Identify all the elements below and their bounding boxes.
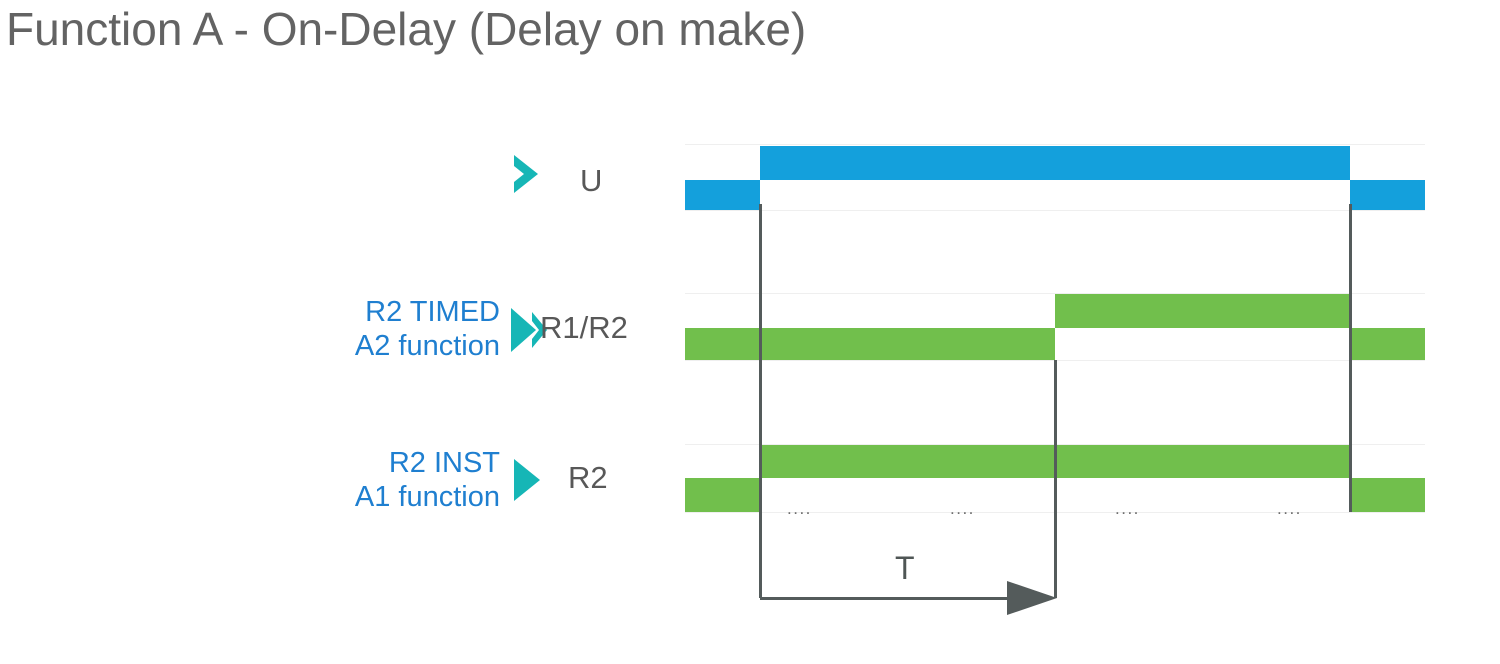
waveform-r1r2-low-end xyxy=(1350,328,1425,360)
waveform-r2-low-end xyxy=(1350,478,1425,512)
waveform-r2-low-start xyxy=(685,478,760,512)
reference-line-input-rise xyxy=(759,204,762,598)
signal-label-u: U xyxy=(580,163,602,199)
continuation-dots: .... xyxy=(1115,504,1140,514)
annotation-r2-inst-line1: R2 INST xyxy=(389,447,500,479)
waveform-u-low-end xyxy=(1350,180,1425,210)
delay-time-label: T xyxy=(895,550,915,587)
timing-diagram: .... .... .... .... xyxy=(685,138,1425,518)
annotation-r2-inst: R2 INST A1 function xyxy=(190,446,500,514)
triangle-right-icon xyxy=(509,456,549,504)
signal-label-r1-r2: R1/R2 xyxy=(540,310,628,346)
chevron-right-icon xyxy=(508,152,548,198)
annotation-r2-timed: R2 TIMED A2 function xyxy=(190,295,500,363)
annotation-r2-timed-line2: A2 function xyxy=(190,329,500,363)
annotation-r2-inst-line2: A1 function xyxy=(190,480,500,514)
waveform-r1r2-high xyxy=(1055,294,1350,328)
continuation-dots: .... xyxy=(787,504,812,514)
gridline xyxy=(685,144,1425,145)
page-title: Function A - On-Delay (Delay on make) xyxy=(6,2,806,56)
reference-line-input-fall xyxy=(1349,204,1352,512)
continuation-dots: .... xyxy=(950,504,975,514)
waveform-r1r2-low-start xyxy=(685,328,1055,360)
waveform-u-low-start xyxy=(685,180,760,210)
delay-time-arrow-shaft xyxy=(760,597,1015,600)
continuation-dots: .... xyxy=(1277,504,1302,514)
arrow-right-icon xyxy=(1005,575,1065,621)
annotation-r2-timed-line1: R2 TIMED xyxy=(365,296,500,328)
waveform-u-high xyxy=(760,146,1350,180)
reference-line-timer-expiry xyxy=(1054,360,1057,598)
signal-label-r2: R2 xyxy=(568,460,608,496)
gridline xyxy=(685,210,1425,211)
